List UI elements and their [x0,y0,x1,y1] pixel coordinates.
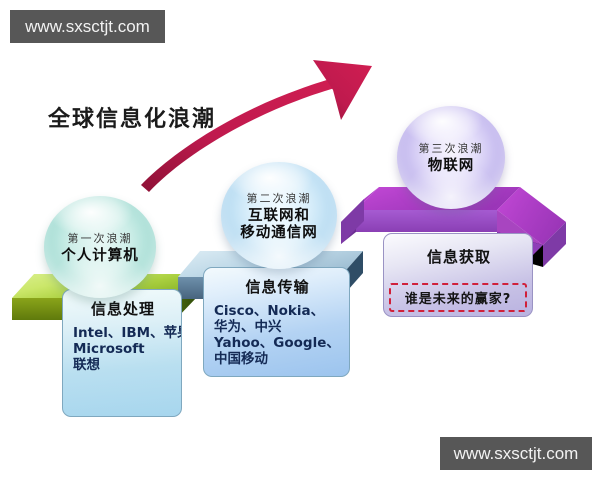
callout-text: 谁是未来的赢家? [405,288,512,307]
sphere-1-wave-label: 第一次浪潮 [68,230,133,246]
panel-1-line-2: Microsoft [73,342,173,358]
sphere-3-title-line-1: 物联网 [428,158,475,174]
sphere-2-title: 互联网和 移动通信网 [240,208,318,240]
sphere-wave-1: 第一次浪潮 个人计算机 [44,196,156,298]
sphere-2-title-line-1: 互联网和 [240,208,318,224]
panel-2-line-1: Cisco、Nokia、 [214,304,341,320]
sphere-2-title-line-2: 移动通信网 [240,225,318,241]
sphere-1-title-line-1: 个人计算机 [61,248,139,264]
panel-2-title: 信息传输 [214,276,341,297]
watermark-bottom: www.sxsctjt.com [440,437,592,470]
sphere-1-title: 个人计算机 [61,248,139,264]
panel-1-line-1: Intel、IBM、苹果 [73,326,173,342]
page-title: 全球信息化浪潮 [48,101,216,133]
panel-2-line-4: 中国移动 [214,352,341,368]
panel-2-line-2: 华为、中兴 [214,320,341,336]
panel-2-body: Cisco、Nokia、 华为、中兴 Yahoo、Google、 中国移动 [214,304,341,368]
sphere-2-wave-label: 第二次浪潮 [247,190,312,206]
panel-1-line-3: 联想 [73,358,173,374]
watermark-top: www.sxsctjt.com [10,10,165,43]
panel-2-line-3: Yahoo、Google、 [214,336,341,352]
panel-1-body: Intel、IBM、苹果 Microsoft 联想 [73,326,173,374]
sphere-wave-2: 第二次浪潮 互联网和 移动通信网 [221,162,337,269]
panel-1-title: 信息处理 [73,298,173,319]
panel-information-processing: 信息处理 Intel、IBM、苹果 Microsoft 联想 [62,289,182,417]
infographic-canvas: 全球信息化浪潮 信息处理 Intel、IBM、苹果 Microsoft 联想 信… [0,0,600,480]
sphere-3-title: 物联网 [428,158,475,174]
callout-who-is-the-future-winner: 谁是未来的赢家? [389,283,527,312]
sphere-3-wave-label: 第三次浪潮 [419,140,484,156]
panel-information-transmission: 信息传输 Cisco、Nokia、 华为、中兴 Yahoo、Google、 中国… [203,267,350,377]
panel-3-title: 信息获取 [394,246,524,267]
sphere-wave-3: 第三次浪潮 物联网 [397,106,505,209]
